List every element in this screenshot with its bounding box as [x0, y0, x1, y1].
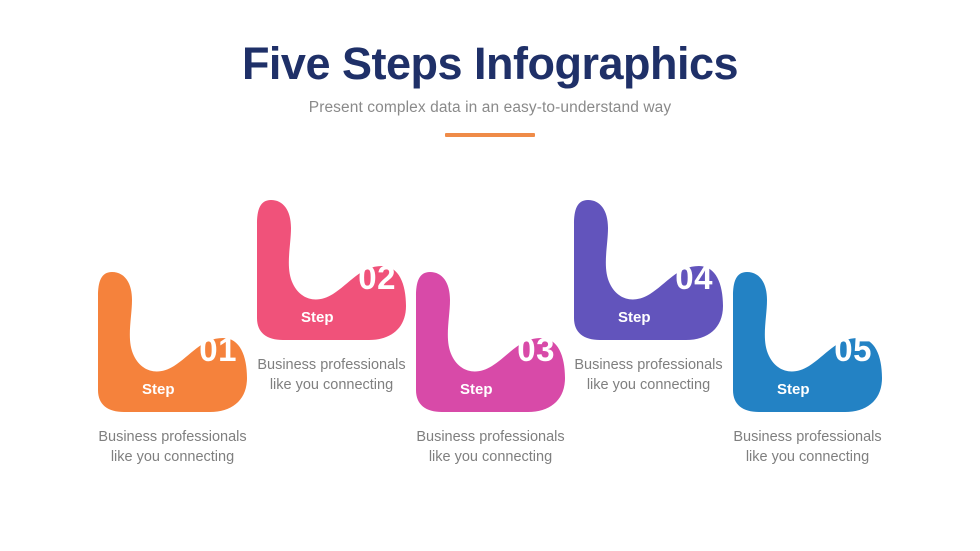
step-label-02: Step [301, 310, 334, 325]
slide-canvas: Five Steps Infographics Present complex … [0, 0, 980, 551]
step-number-04: 04 [675, 261, 713, 294]
caption-line-1: Business professionals [249, 356, 414, 376]
step-number-01: 01 [199, 333, 237, 366]
step-label-05: Step [777, 382, 810, 397]
page-title: Five Steps Infographics [0, 40, 980, 89]
step-caption-05: Business professionals like you connecti… [725, 428, 890, 467]
step-caption-02: Business professionals like you connecti… [249, 356, 414, 395]
caption-line-2: like you connecting [566, 376, 731, 396]
caption-line-1: Business professionals [408, 428, 573, 448]
step-label-01: Step [142, 382, 175, 397]
step-blob-02[interactable]: 02 Step [249, 200, 414, 340]
step-item-04[interactable]: 04 Step Business professionals like you … [566, 200, 731, 395]
step-blob-01[interactable]: 01 Step [90, 272, 255, 412]
step-item-02[interactable]: 02 Step Business professionals like you … [249, 200, 414, 395]
page-subtitle: Present complex data in an easy-to-under… [0, 99, 980, 118]
step-caption-04: Business professionals like you connecti… [566, 356, 731, 395]
header: Five Steps Infographics Present complex … [0, 40, 980, 137]
step-number-03: 03 [517, 333, 555, 366]
caption-line-1: Business professionals [566, 356, 731, 376]
title-divider [445, 133, 535, 137]
steps-container: 01 Step Business professionals like you … [0, 190, 980, 490]
caption-line-1: Business professionals [90, 428, 255, 448]
caption-line-1: Business professionals [725, 428, 890, 448]
caption-line-2: like you connecting [725, 448, 890, 468]
caption-line-2: like you connecting [90, 448, 255, 468]
step-blob-04[interactable]: 04 Step [566, 200, 731, 340]
caption-line-2: like you connecting [249, 376, 414, 396]
step-number-05: 05 [834, 333, 872, 366]
step-item-03[interactable]: 03 Step Business professionals like you … [408, 272, 573, 467]
step-label-03: Step [460, 382, 493, 397]
step-caption-03: Business professionals like you connecti… [408, 428, 573, 467]
step-number-02: 02 [358, 261, 396, 294]
step-item-01[interactable]: 01 Step Business professionals like you … [90, 272, 255, 467]
step-caption-01: Business professionals like you connecti… [90, 428, 255, 467]
step-blob-03[interactable]: 03 Step [408, 272, 573, 412]
step-item-05[interactable]: 05 Step Business professionals like you … [725, 272, 890, 467]
step-blob-05[interactable]: 05 Step [725, 272, 890, 412]
step-label-04: Step [618, 310, 651, 325]
caption-line-2: like you connecting [408, 448, 573, 468]
